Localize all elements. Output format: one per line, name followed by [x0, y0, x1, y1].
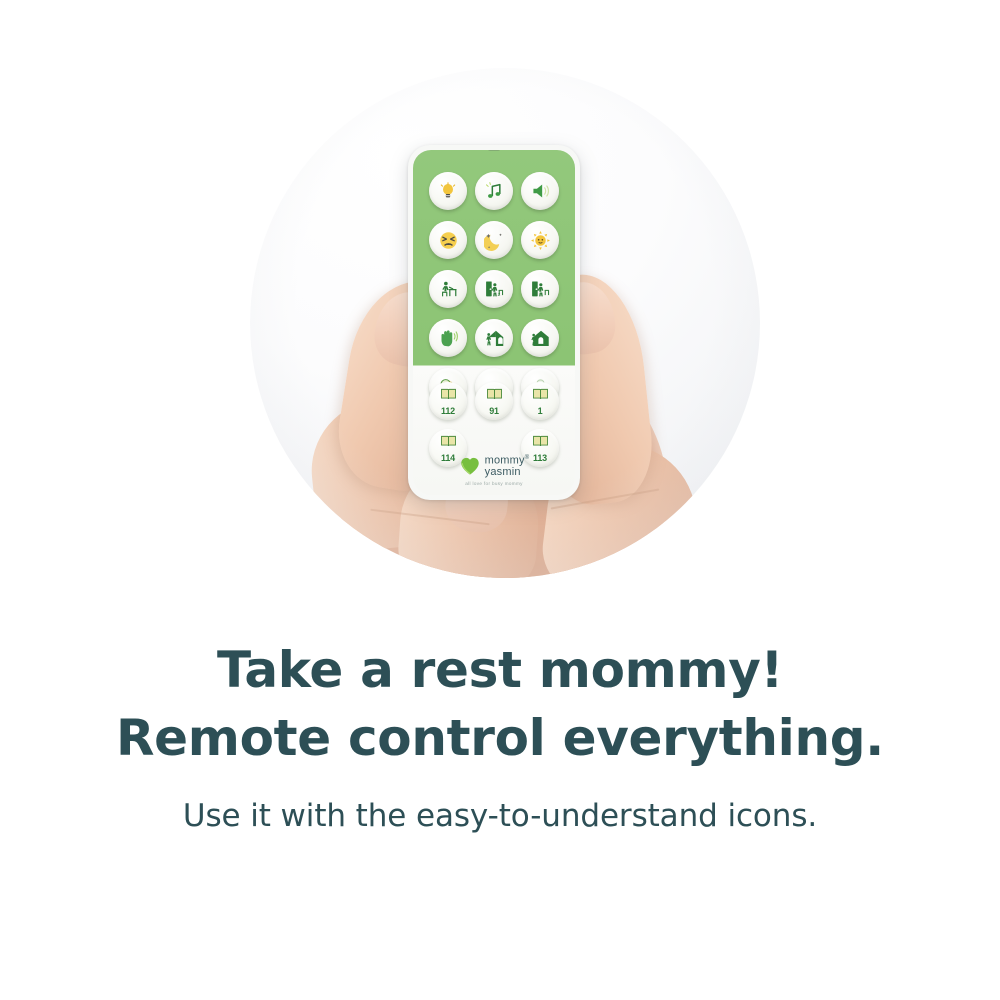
number-button-91[interactable]: 91	[475, 382, 513, 420]
person-at-desk-icon	[438, 279, 459, 300]
brand-logo: mommy® yasmin all love for busy mommy	[413, 455, 575, 486]
speaker-volume-icon	[530, 181, 551, 201]
book-icon	[440, 434, 457, 453]
number-button-112[interactable]: 112	[429, 382, 467, 420]
button-crying-baby[interactable]	[429, 221, 467, 259]
headline-line-2: Remote control everything.	[0, 704, 1000, 772]
button-day[interactable]	[521, 221, 559, 259]
book-icon	[532, 434, 549, 453]
number-label: 91	[489, 407, 499, 416]
headline-line-1: Take a rest mommy!	[0, 636, 1000, 704]
button-volume[interactable]	[521, 172, 559, 210]
number-button-1[interactable]: 1	[521, 382, 559, 420]
number-label: 112	[441, 407, 455, 416]
lightbulb-icon	[438, 181, 458, 201]
brand-words: mommy® yasmin	[485, 455, 530, 478]
button-leave-room[interactable]: Z	[475, 270, 513, 308]
music-note-icon	[484, 181, 504, 201]
enter-house-icon	[530, 328, 551, 349]
crying-face-icon	[438, 230, 459, 251]
subline: Use it with the easy-to-understand icons…	[0, 796, 1000, 836]
button-lightbulb[interactable]	[429, 172, 467, 210]
enter-room-icon	[530, 279, 551, 300]
photo-circle-mask: Z	[250, 68, 760, 578]
button-enter-house[interactable]	[521, 319, 559, 357]
brand-name: mommy®	[485, 455, 530, 467]
button-enter-room[interactable]	[521, 270, 559, 308]
number-label: 1	[538, 407, 543, 416]
book-icon	[486, 387, 503, 406]
remote-control-device[interactable]: Z	[408, 145, 580, 500]
product-photo: Z	[0, 0, 1000, 610]
button-leave-house[interactable]	[475, 319, 513, 357]
leave-room-icon: Z	[484, 279, 505, 300]
icon-button-grid: Z	[413, 172, 575, 406]
brand-subname: yasmin	[485, 467, 530, 478]
svg-text:Z: Z	[497, 292, 500, 297]
leave-house-icon	[484, 328, 505, 349]
remote-faceplate: Z	[413, 150, 575, 495]
heart-icon	[459, 456, 481, 476]
button-desk-time[interactable]	[429, 270, 467, 308]
brand-row: mommy® yasmin	[459, 455, 530, 478]
book-icon	[440, 387, 457, 406]
sun-day-icon	[530, 230, 551, 251]
moon-night-icon	[484, 230, 505, 251]
waving-hand-icon	[438, 328, 459, 349]
button-wave[interactable]	[429, 319, 467, 357]
caption-block: Take a rest mommy! Remote control everyt…	[0, 636, 1000, 836]
button-night[interactable]	[475, 221, 513, 259]
button-music[interactable]	[475, 172, 513, 210]
book-icon	[532, 387, 549, 406]
ir-emitter-icon	[488, 150, 500, 151]
brand-tagline: all love for busy mommy	[465, 481, 523, 486]
